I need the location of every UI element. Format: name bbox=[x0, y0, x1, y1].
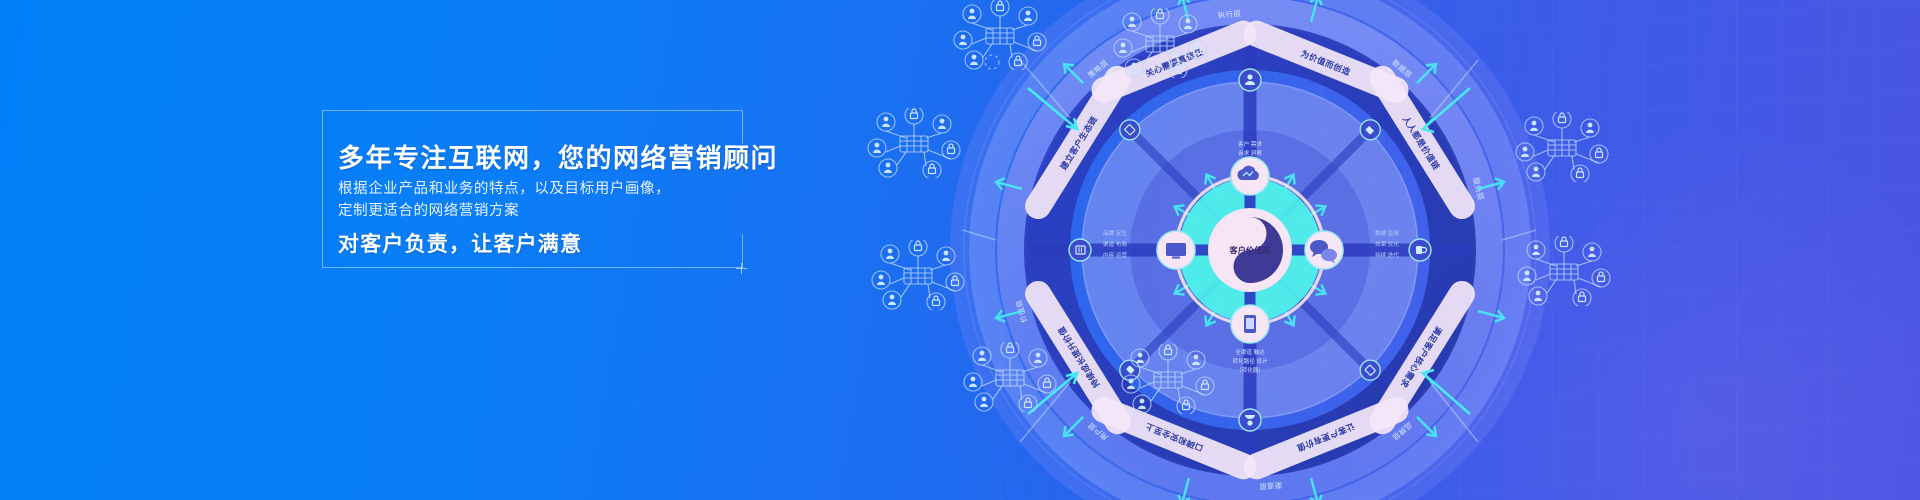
hero-subline: 根据企业产品和业务的特点，以及目标用户画像， 定制更适合的网络营销方案 bbox=[338, 178, 670, 222]
satellite-cluster-top-left bbox=[952, 0, 1048, 70]
satellite-cluster-top-right bbox=[1112, 8, 1208, 78]
hero-subline-2: 定制更适合的网络营销方案 bbox=[338, 203, 519, 219]
hub-node-desktop bbox=[1157, 231, 1195, 269]
hero-tagline: 对客户负责，让客户满意 bbox=[338, 228, 582, 258]
hub-node-chat bbox=[1305, 231, 1343, 269]
satellite-cluster-lower-left bbox=[870, 240, 966, 310]
hero-headline: 多年专注互联网，您的网络营销顾问 bbox=[338, 138, 778, 175]
hub-center-label: 客户价值观 bbox=[1229, 245, 1272, 255]
frame-crosshair-icon bbox=[736, 263, 747, 274]
marketing-wheel-graphic: 建立客户生态链 关心需要真信任 为价值而创造 人人都是价值链 满足客户核心需求 … bbox=[900, 0, 1600, 500]
satellite-cluster-left bbox=[866, 108, 962, 178]
hub-node-mobile bbox=[1231, 305, 1269, 343]
inner-note-line: （转化器） bbox=[1236, 366, 1264, 374]
satellite-cluster-bottom-right bbox=[1120, 344, 1216, 414]
hero-subline-1: 根据企业产品和业务的特点，以及目标用户画像， bbox=[338, 181, 670, 197]
wheel-svg: 建立客户生态链 关心需要真信任 为价值而创造 人人都是价值链 满足客户核心需求 … bbox=[900, 0, 1600, 500]
hero-banner: 多年专注互联网，您的网络营销顾问 根据企业产品和业务的特点，以及目标用户画像， … bbox=[0, 0, 1920, 500]
inner-note-line: 客户 需求 bbox=[1238, 140, 1262, 148]
inner-note-line: 品牌 定位 bbox=[1103, 229, 1127, 237]
inner-note-line: 数据 监测 bbox=[1375, 229, 1399, 237]
inner-note-line: 内容 运营 bbox=[1103, 251, 1127, 259]
hero-copy-block: 多年专注互联网，您的网络营销顾问 根据企业产品和业务的特点，以及目标用户画像， … bbox=[322, 110, 742, 270]
satellite-cluster-bottom-left bbox=[962, 342, 1058, 412]
satellite-cluster-right bbox=[1514, 112, 1610, 182]
inner-note-line: 渠道 布局 bbox=[1103, 240, 1127, 248]
inner-note-line: 转化路径 设计 bbox=[1232, 357, 1268, 365]
inner-note-line: 诉求 洞察 bbox=[1238, 149, 1262, 157]
satellite-cluster-lower-right bbox=[1516, 236, 1612, 306]
hub-node-cloud bbox=[1231, 157, 1269, 195]
inner-note-line: 全渠道 触达 bbox=[1235, 348, 1265, 356]
inner-note-line: 持续 迭代 bbox=[1375, 251, 1399, 259]
inner-note-line: 效果 优化 bbox=[1375, 240, 1399, 248]
